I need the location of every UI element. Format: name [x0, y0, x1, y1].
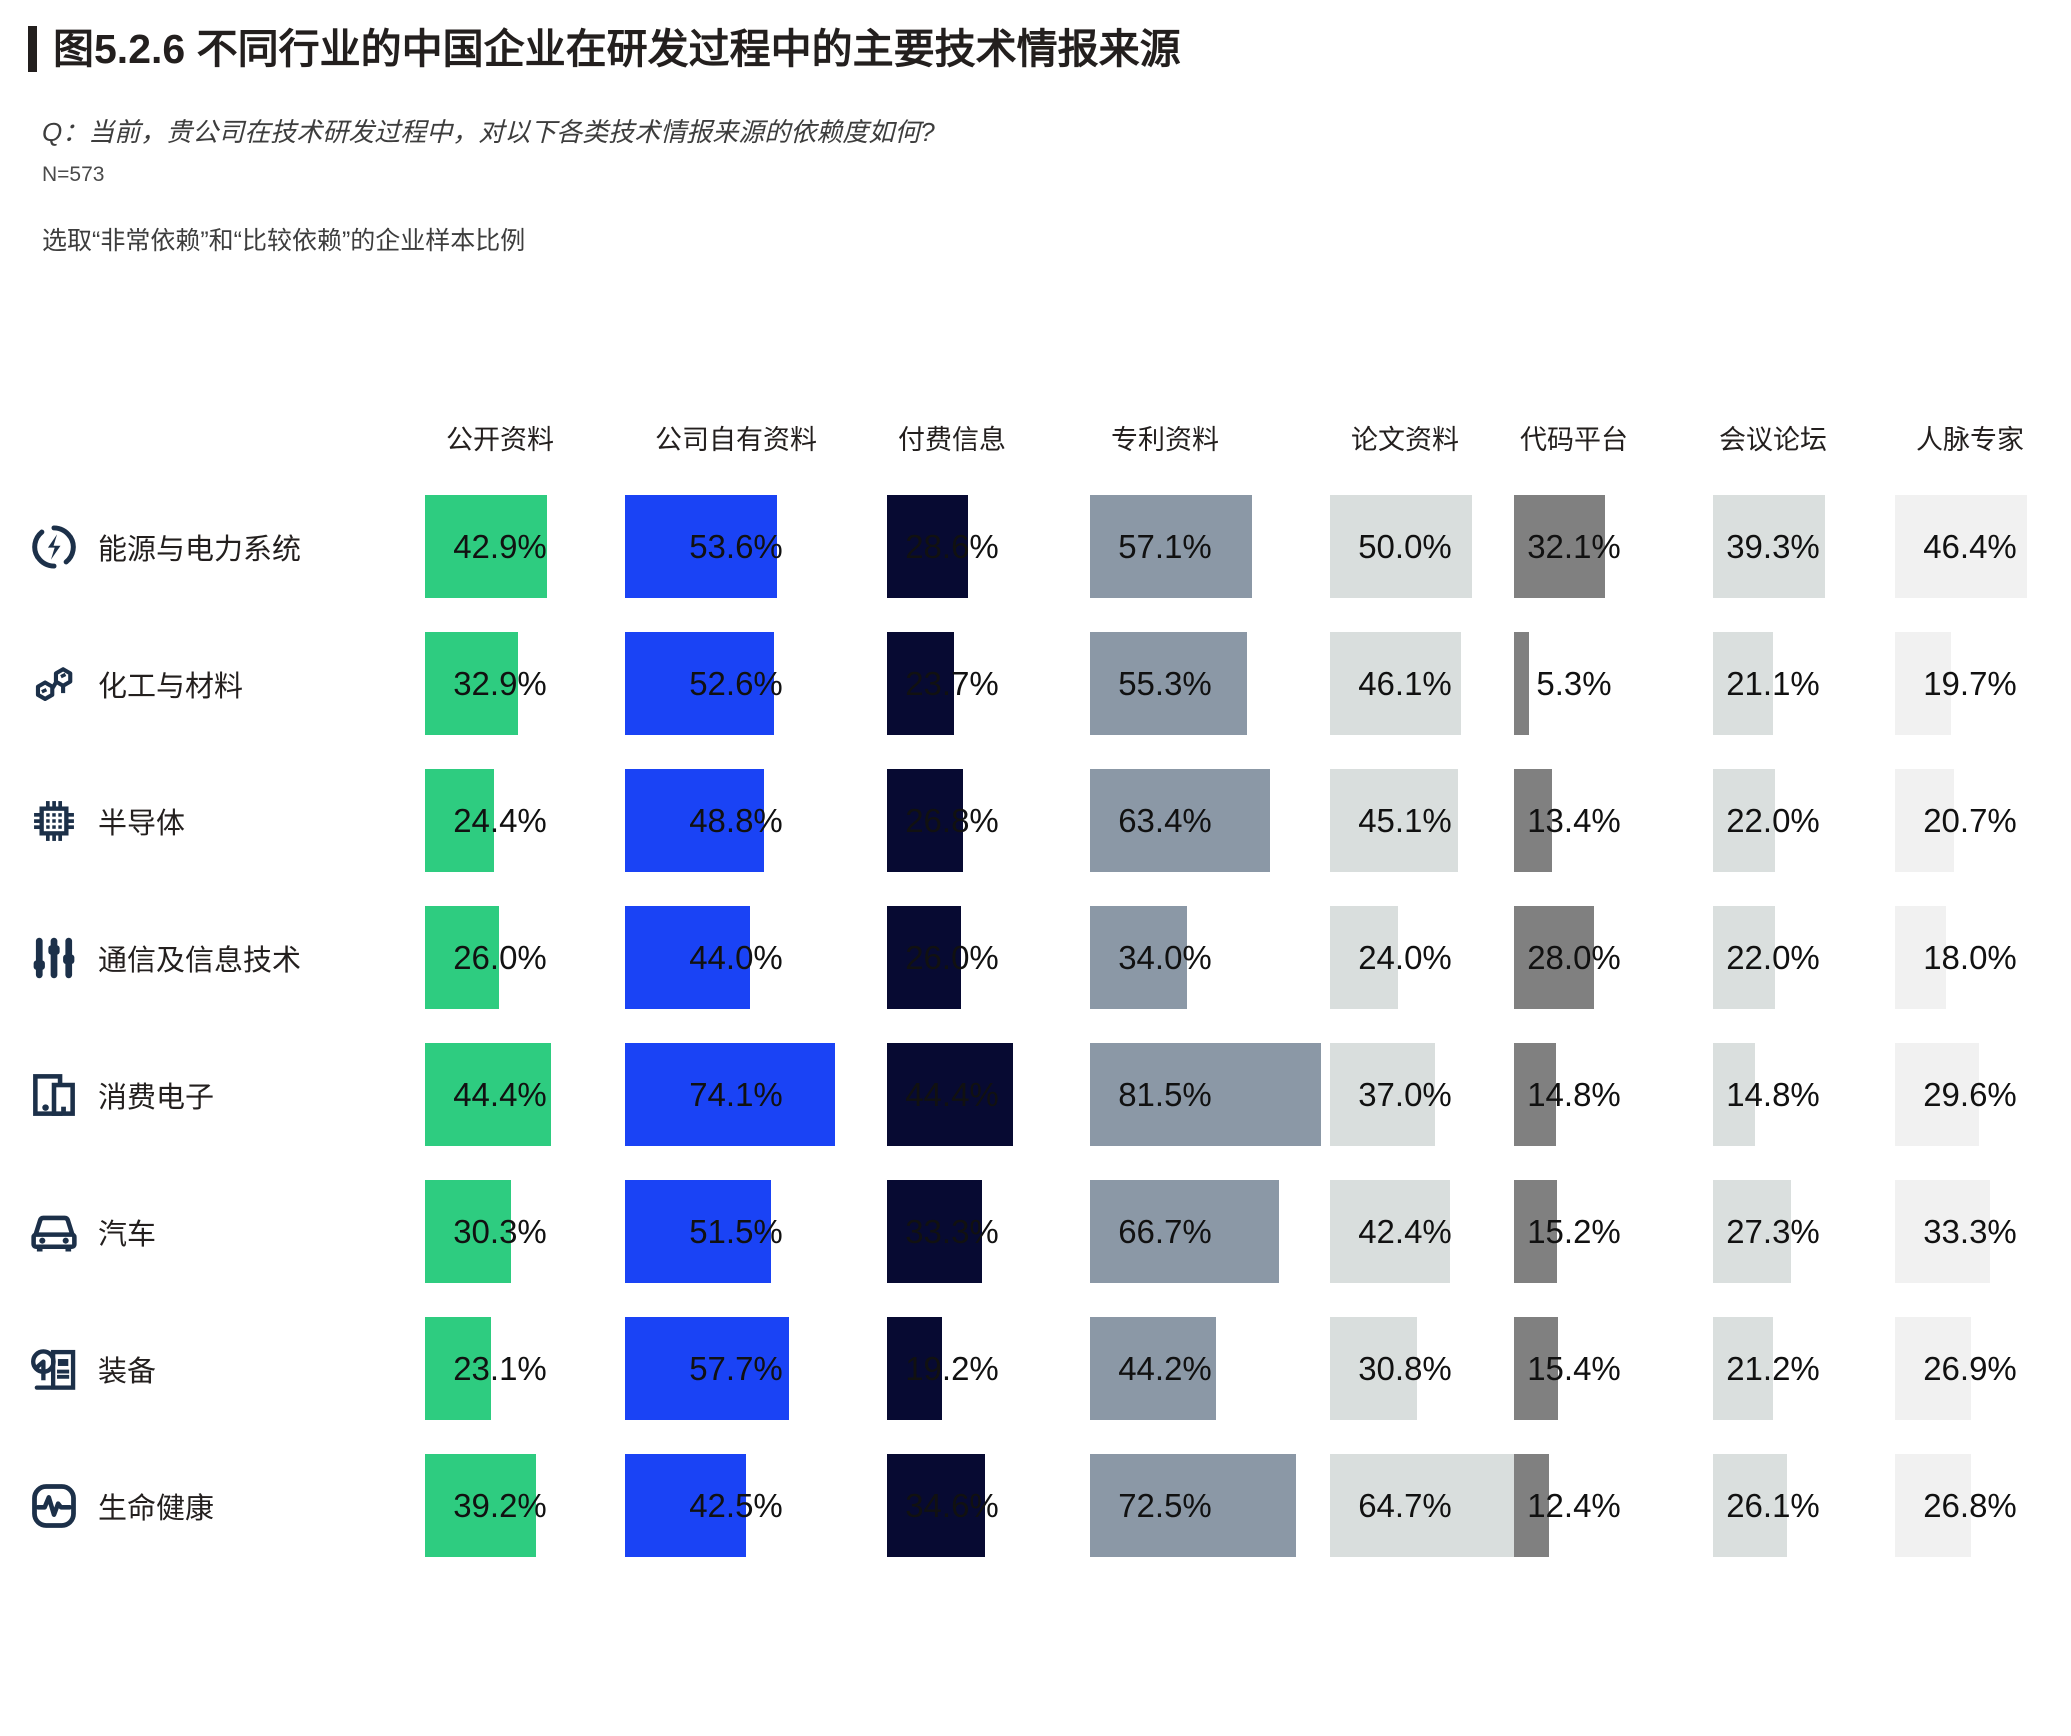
- bar: [887, 632, 954, 735]
- row-label-chemical-molecule: 化工与材料: [28, 615, 243, 752]
- bar: [1713, 1317, 1773, 1420]
- chart-row: 通信及信息技术26.0%44.0%26.0%34.0%24.0%28.0%22.…: [0, 889, 2071, 1026]
- bar: [1895, 1043, 1979, 1146]
- bar-value-label: 14.8%: [1683, 1026, 1863, 1163]
- row-name: 生命健康: [98, 1485, 214, 1527]
- bar: [625, 632, 774, 735]
- bar: [1895, 632, 1951, 735]
- measure-note: 选取“非常依赖”和“比较依赖”的企业样本比例: [42, 221, 2071, 257]
- bar: [1330, 1043, 1435, 1146]
- bar: [625, 1454, 746, 1557]
- chart-row: 消费电子44.4%74.1%44.4%81.5%37.0%14.8%14.8%2…: [0, 1026, 2071, 1163]
- bar: [1514, 632, 1529, 735]
- bar: [1090, 769, 1270, 872]
- bar: [1090, 1043, 1321, 1146]
- bar: [625, 1180, 771, 1283]
- chart-row: 化工与材料32.9%52.6%23.7%55.3%46.1%5.3%21.1%1…: [0, 615, 2071, 752]
- bar: [887, 1317, 942, 1420]
- bar: [1713, 906, 1775, 1009]
- chart-row: 生命健康39.2%42.5%34.6%72.5%64.7%12.4%26.1%2…: [0, 1437, 2071, 1574]
- bar: [1330, 1180, 1450, 1283]
- bar: [1330, 1317, 1417, 1420]
- bar-value-label: 14.8%: [1484, 1026, 1664, 1163]
- bar: [425, 769, 494, 872]
- row-name: 装备: [98, 1348, 156, 1390]
- chart-row: 能源与电力系统42.9%53.6%28.6%57.1%50.0%32.1%39.…: [0, 478, 2071, 615]
- bar: [1090, 1180, 1279, 1283]
- bar: [1090, 906, 1187, 1009]
- bar: [1090, 495, 1252, 598]
- bar: [1895, 906, 1946, 1009]
- figure-title-text: 图5.2.6 不同行业的中国企业在研发过程中的主要技术情报来源: [53, 26, 1181, 72]
- bar: [887, 1043, 1013, 1146]
- bar: [887, 1180, 982, 1283]
- bar: [1713, 495, 1825, 598]
- bar: [1713, 632, 1773, 735]
- bar: [425, 906, 499, 1009]
- bar-value-label: 15.4%: [1484, 1300, 1664, 1437]
- bar: [1895, 1180, 1990, 1283]
- bar: [1895, 1317, 1971, 1420]
- bar: [1713, 1454, 1787, 1557]
- bar: [425, 1180, 511, 1283]
- bar: [425, 1317, 491, 1420]
- car-icon: [28, 1206, 80, 1258]
- row-label-semiconductor-chip: 半导体: [28, 752, 185, 889]
- bar-value-label: 15.2%: [1484, 1163, 1664, 1300]
- bar: [887, 906, 961, 1009]
- bar: [1514, 1043, 1556, 1146]
- semiconductor-chip-icon: [28, 795, 80, 847]
- signal-sliders-icon: [28, 932, 80, 984]
- bar: [1713, 1043, 1755, 1146]
- bar: [1895, 769, 1954, 872]
- row-label-equipment-gauge: 装备: [28, 1300, 156, 1437]
- chart-area: 公开资料公司自有资料付费信息专利资料论文资料代码平台会议论坛人脉专家 能源与电力…: [0, 418, 2071, 1574]
- bar: [1090, 1317, 1216, 1420]
- column-header-row: 公开资料公司自有资料付费信息专利资料论文资料代码平台会议论坛人脉专家: [0, 418, 2071, 478]
- row-label-signal-sliders: 通信及信息技术: [28, 889, 301, 1026]
- row-name: 消费电子: [98, 1074, 214, 1116]
- bar: [1330, 769, 1458, 872]
- column-header-1: 公开资料: [370, 418, 630, 457]
- equipment-gauge-icon: [28, 1343, 80, 1395]
- row-name: 能源与电力系统: [98, 526, 301, 568]
- row-name: 汽车: [98, 1211, 156, 1253]
- bar: [887, 769, 963, 872]
- bar: [625, 1317, 789, 1420]
- chart-row: 半导体24.4%48.8%26.8%63.4%45.1%13.4%22.0%20…: [0, 752, 2071, 889]
- bar: [425, 632, 518, 735]
- bar: [425, 1043, 551, 1146]
- energy-power-icon: [28, 521, 80, 573]
- bar: [625, 769, 764, 872]
- bar: [1090, 1454, 1296, 1557]
- bar: [1330, 495, 1472, 598]
- bar: [425, 495, 547, 598]
- row-name: 半导体: [98, 800, 185, 842]
- row-label-car: 汽车: [28, 1163, 156, 1300]
- bar: [1514, 769, 1552, 872]
- title-accent-bar: [28, 26, 37, 72]
- bar: [1514, 495, 1605, 598]
- figure-header: 图5.2.6 不同行业的中国企业在研发过程中的主要技术情报来源 Q：当前，贵公司…: [0, 0, 2071, 257]
- bar: [1330, 906, 1398, 1009]
- bar: [425, 1454, 536, 1557]
- bar: [1713, 1180, 1791, 1283]
- consumer-devices-icon: [28, 1069, 80, 1121]
- chart-row: 装备23.1%57.7%19.2%44.2%30.8%15.4%21.2%26.…: [0, 1300, 2071, 1437]
- bar: [1895, 495, 2027, 598]
- bar-value-label: 5.3%: [1484, 615, 1664, 752]
- chart-rows: 能源与电力系统42.9%53.6%28.6%57.1%50.0%32.1%39.…: [0, 478, 2071, 1574]
- bar: [887, 495, 968, 598]
- bar: [625, 1043, 835, 1146]
- bar-value-label: 13.4%: [1484, 752, 1664, 889]
- row-label-heartbeat: 生命健康: [28, 1437, 214, 1574]
- bar: [1514, 1180, 1557, 1283]
- bar: [1514, 1317, 1558, 1420]
- bar: [1895, 1454, 1971, 1557]
- bar: [1713, 769, 1775, 872]
- column-header-8: 人脉专家: [1840, 418, 2071, 457]
- row-name: 化工与材料: [98, 663, 243, 705]
- sample-size-label: N=573: [42, 163, 2071, 187]
- bar: [1330, 1454, 1514, 1557]
- bar-value-label: 21.1%: [1683, 615, 1863, 752]
- bar: [1330, 632, 1461, 735]
- column-header-4: 专利资料: [1035, 418, 1295, 457]
- row-name: 通信及信息技术: [98, 937, 301, 979]
- row-label-consumer-devices: 消费电子: [28, 1026, 214, 1163]
- bar: [887, 1454, 985, 1557]
- survey-question: Q：当前，贵公司在技术研发过程中，对以下各类技术情报来源的依赖度如何?: [42, 112, 2071, 149]
- chemical-molecule-icon: [28, 658, 80, 710]
- page-title: 图5.2.6 不同行业的中国企业在研发过程中的主要技术情报来源: [28, 26, 2071, 72]
- chart-row: 汽车30.3%51.5%33.3%66.7%42.4%15.2%27.3%33.…: [0, 1163, 2071, 1300]
- bar: [1090, 632, 1247, 735]
- row-label-energy-power: 能源与电力系统: [28, 478, 301, 615]
- bar: [625, 906, 750, 1009]
- bar: [625, 495, 777, 598]
- bar: [1514, 1454, 1549, 1557]
- bar: [1514, 906, 1594, 1009]
- heartbeat-icon: [28, 1480, 80, 1532]
